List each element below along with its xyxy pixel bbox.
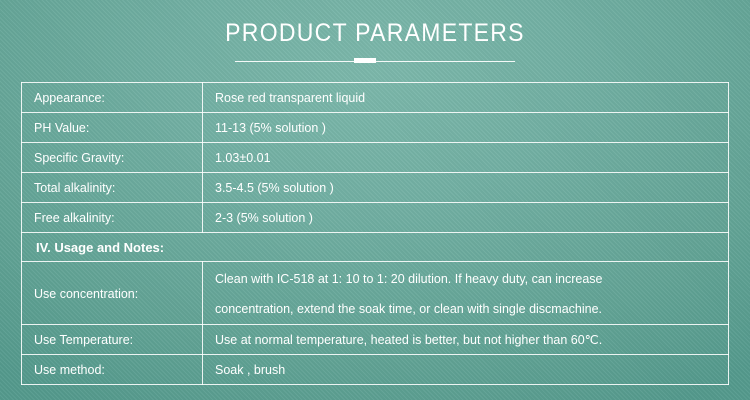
row-value-line-2: concentration, extend the soak time, or … <box>215 294 716 324</box>
row-label: Total alkalinity: <box>22 173 203 203</box>
row-label: Specific Gravity: <box>22 143 203 173</box>
row-value: 1.03±0.01 <box>203 143 729 173</box>
table-row: Use Temperature: Use at normal temperatu… <box>22 325 729 355</box>
row-label: PH Value: <box>22 113 203 143</box>
row-value: 2-3 (5% solution ) <box>203 203 729 233</box>
table-section-header-row: IV. Usage and Notes: <box>22 233 729 262</box>
table-row: PH Value: 11-13 (5% solution ) <box>22 113 729 143</box>
product-parameters-page: PRODUCT PARAMETERS Appearance: Rose red … <box>0 0 750 400</box>
row-value: Rose red transparent liquid <box>203 83 729 113</box>
row-label: Use Temperature: <box>22 325 203 355</box>
table-row: Use concentration: Clean with IC-518 at … <box>22 262 729 325</box>
product-parameters-table: Appearance: Rose red transparent liquid … <box>21 82 729 385</box>
table-row: Total alkalinity: 3.5-4.5 (5% solution ) <box>22 173 729 203</box>
table-row: Free alkalinity: 2-3 (5% solution ) <box>22 203 729 233</box>
row-label: Appearance: <box>22 83 203 113</box>
title-divider-knob <box>354 58 376 63</box>
row-value: 3.5-4.5 (5% solution ) <box>203 173 729 203</box>
table-row: Appearance: Rose red transparent liquid <box>22 83 729 113</box>
row-value: Soak , brush <box>203 355 729 385</box>
title-block: PRODUCT PARAMETERS <box>0 18 750 48</box>
row-label: Free alkalinity: <box>22 203 203 233</box>
row-label: Use concentration: <box>22 262 203 325</box>
table-row: Specific Gravity: 1.03±0.01 <box>22 143 729 173</box>
row-value: 11-13 (5% solution ) <box>203 113 729 143</box>
section-header-label: IV. Usage and Notes: <box>22 233 729 262</box>
page-title: PRODUCT PARAMETERS <box>30 18 720 48</box>
row-value-line-1: Clean with IC-518 at 1: 10 to 1: 20 dilu… <box>215 264 716 294</box>
row-value: Clean with IC-518 at 1: 10 to 1: 20 dilu… <box>203 262 729 325</box>
table-row: Use method: Soak , brush <box>22 355 729 385</box>
row-value: Use at normal temperature, heated is bet… <box>203 325 729 355</box>
row-label: Use method: <box>22 355 203 385</box>
